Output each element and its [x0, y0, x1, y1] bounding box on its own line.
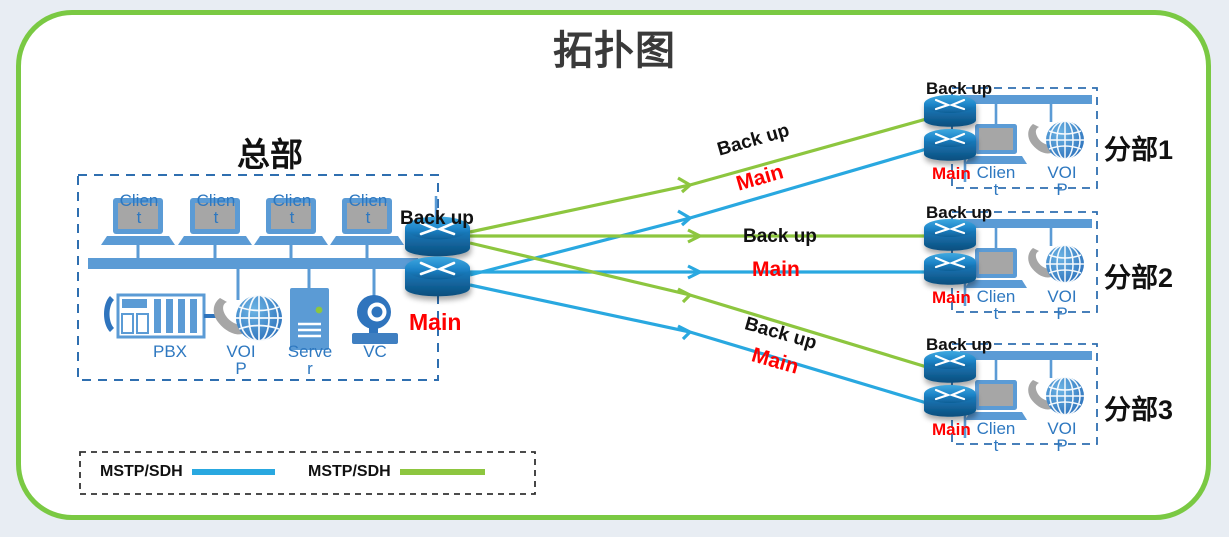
hq-router-backup-label: Back up — [400, 208, 474, 230]
wan-link-branch1-main — [470, 148, 930, 275]
server-icon — [290, 288, 329, 350]
branch2-backup-label: Back up — [926, 203, 992, 223]
branch3-client-label-line2: t — [994, 436, 999, 455]
branch3-voip-label: VOI P — [1041, 420, 1083, 454]
hq-router-main — [405, 257, 470, 297]
branch3-router-main — [924, 385, 976, 417]
link-label-branch2-main: Main — [752, 258, 800, 282]
branch2-client-label-line2: t — [994, 304, 999, 323]
topology-diagram: 拓扑图 总部 Clien t Clien t Clien t Clien t P… — [0, 0, 1229, 537]
hq-client-1-label: Clien t — [113, 192, 165, 226]
hq-vc-label: VC — [352, 343, 398, 360]
branch1-router-main — [924, 129, 976, 161]
page-title: 拓扑图 — [0, 18, 1229, 76]
video-camera-icon — [352, 295, 398, 344]
hq-voip-label: VOI P — [218, 343, 264, 377]
hq-pbx-label: PBX — [140, 343, 200, 360]
branch1-backup-label: Back up — [926, 79, 992, 99]
voip-globe-icon-hq — [214, 295, 282, 341]
wan-link-branch3-main — [470, 285, 930, 404]
branch3-title: 分部3 — [1104, 388, 1173, 427]
wan-link-branch3-backup — [470, 243, 930, 368]
hq-client-1-label-line2: t — [137, 208, 142, 227]
wan-link-branch2-main — [470, 266, 930, 278]
hq-client-2-label-line2: t — [214, 208, 219, 227]
hq-drop-lines-top — [138, 244, 367, 260]
hq-client-3-label: Clien t — [266, 192, 318, 226]
branch1-voip-label: VOI P — [1041, 164, 1083, 198]
branch3-backup-label: Back up — [926, 335, 992, 355]
hq-server-label: Serve r — [283, 343, 337, 377]
branch3-router-backup — [924, 351, 976, 383]
branch1-title: 分部1 — [1104, 128, 1173, 167]
legend-item-backup-label: MSTP/SDH — [308, 463, 391, 481]
hq-server-label-line2: r — [307, 359, 313, 378]
hq-client-4-label: Clien t — [342, 192, 394, 226]
branch1-voip-label-line2: P — [1056, 180, 1067, 199]
hq-router-main-label: Main — [409, 309, 461, 336]
branch2-voip-label: VOI P — [1041, 288, 1083, 322]
hq-client-2-label: Clien t — [190, 192, 242, 226]
legend-item-main-label: MSTP/SDH — [100, 463, 183, 481]
branch1-main-label: Main — [932, 164, 971, 184]
diagram-canvas — [0, 0, 1229, 537]
branch2-client-label: Clien t — [975, 288, 1017, 322]
branch2-voip-label-line2: P — [1056, 304, 1067, 323]
branch2-router-main — [924, 253, 976, 285]
branch2-router-backup — [924, 219, 976, 251]
hq-client-3-label-line2: t — [290, 208, 295, 227]
link-label-branch2-backup: Back up — [743, 226, 817, 248]
hq-title: 总部 — [140, 128, 400, 176]
branch1-client-label: Clien t — [975, 164, 1017, 198]
branch1-voip-globe-icon — [1028, 121, 1084, 159]
hq-client-4-label-line2: t — [366, 208, 371, 227]
wan-link-branch2-backup — [470, 230, 930, 242]
branch3-main-label: Main — [932, 420, 971, 440]
branch1-client-label-line2: t — [994, 180, 999, 199]
branch2-main-label: Main — [932, 288, 971, 308]
pbx-icon — [104, 295, 224, 337]
branch1-router-backup — [924, 95, 976, 127]
hq-voip-label-line2: P — [235, 359, 246, 378]
branch2-title: 分部2 — [1104, 256, 1173, 295]
branch3-client-label: Clien t — [975, 420, 1017, 454]
branch2-voip-globe-icon — [1028, 245, 1084, 283]
branch3-voip-label-line2: P — [1056, 436, 1067, 455]
branch3-voip-globe-icon — [1028, 377, 1084, 415]
